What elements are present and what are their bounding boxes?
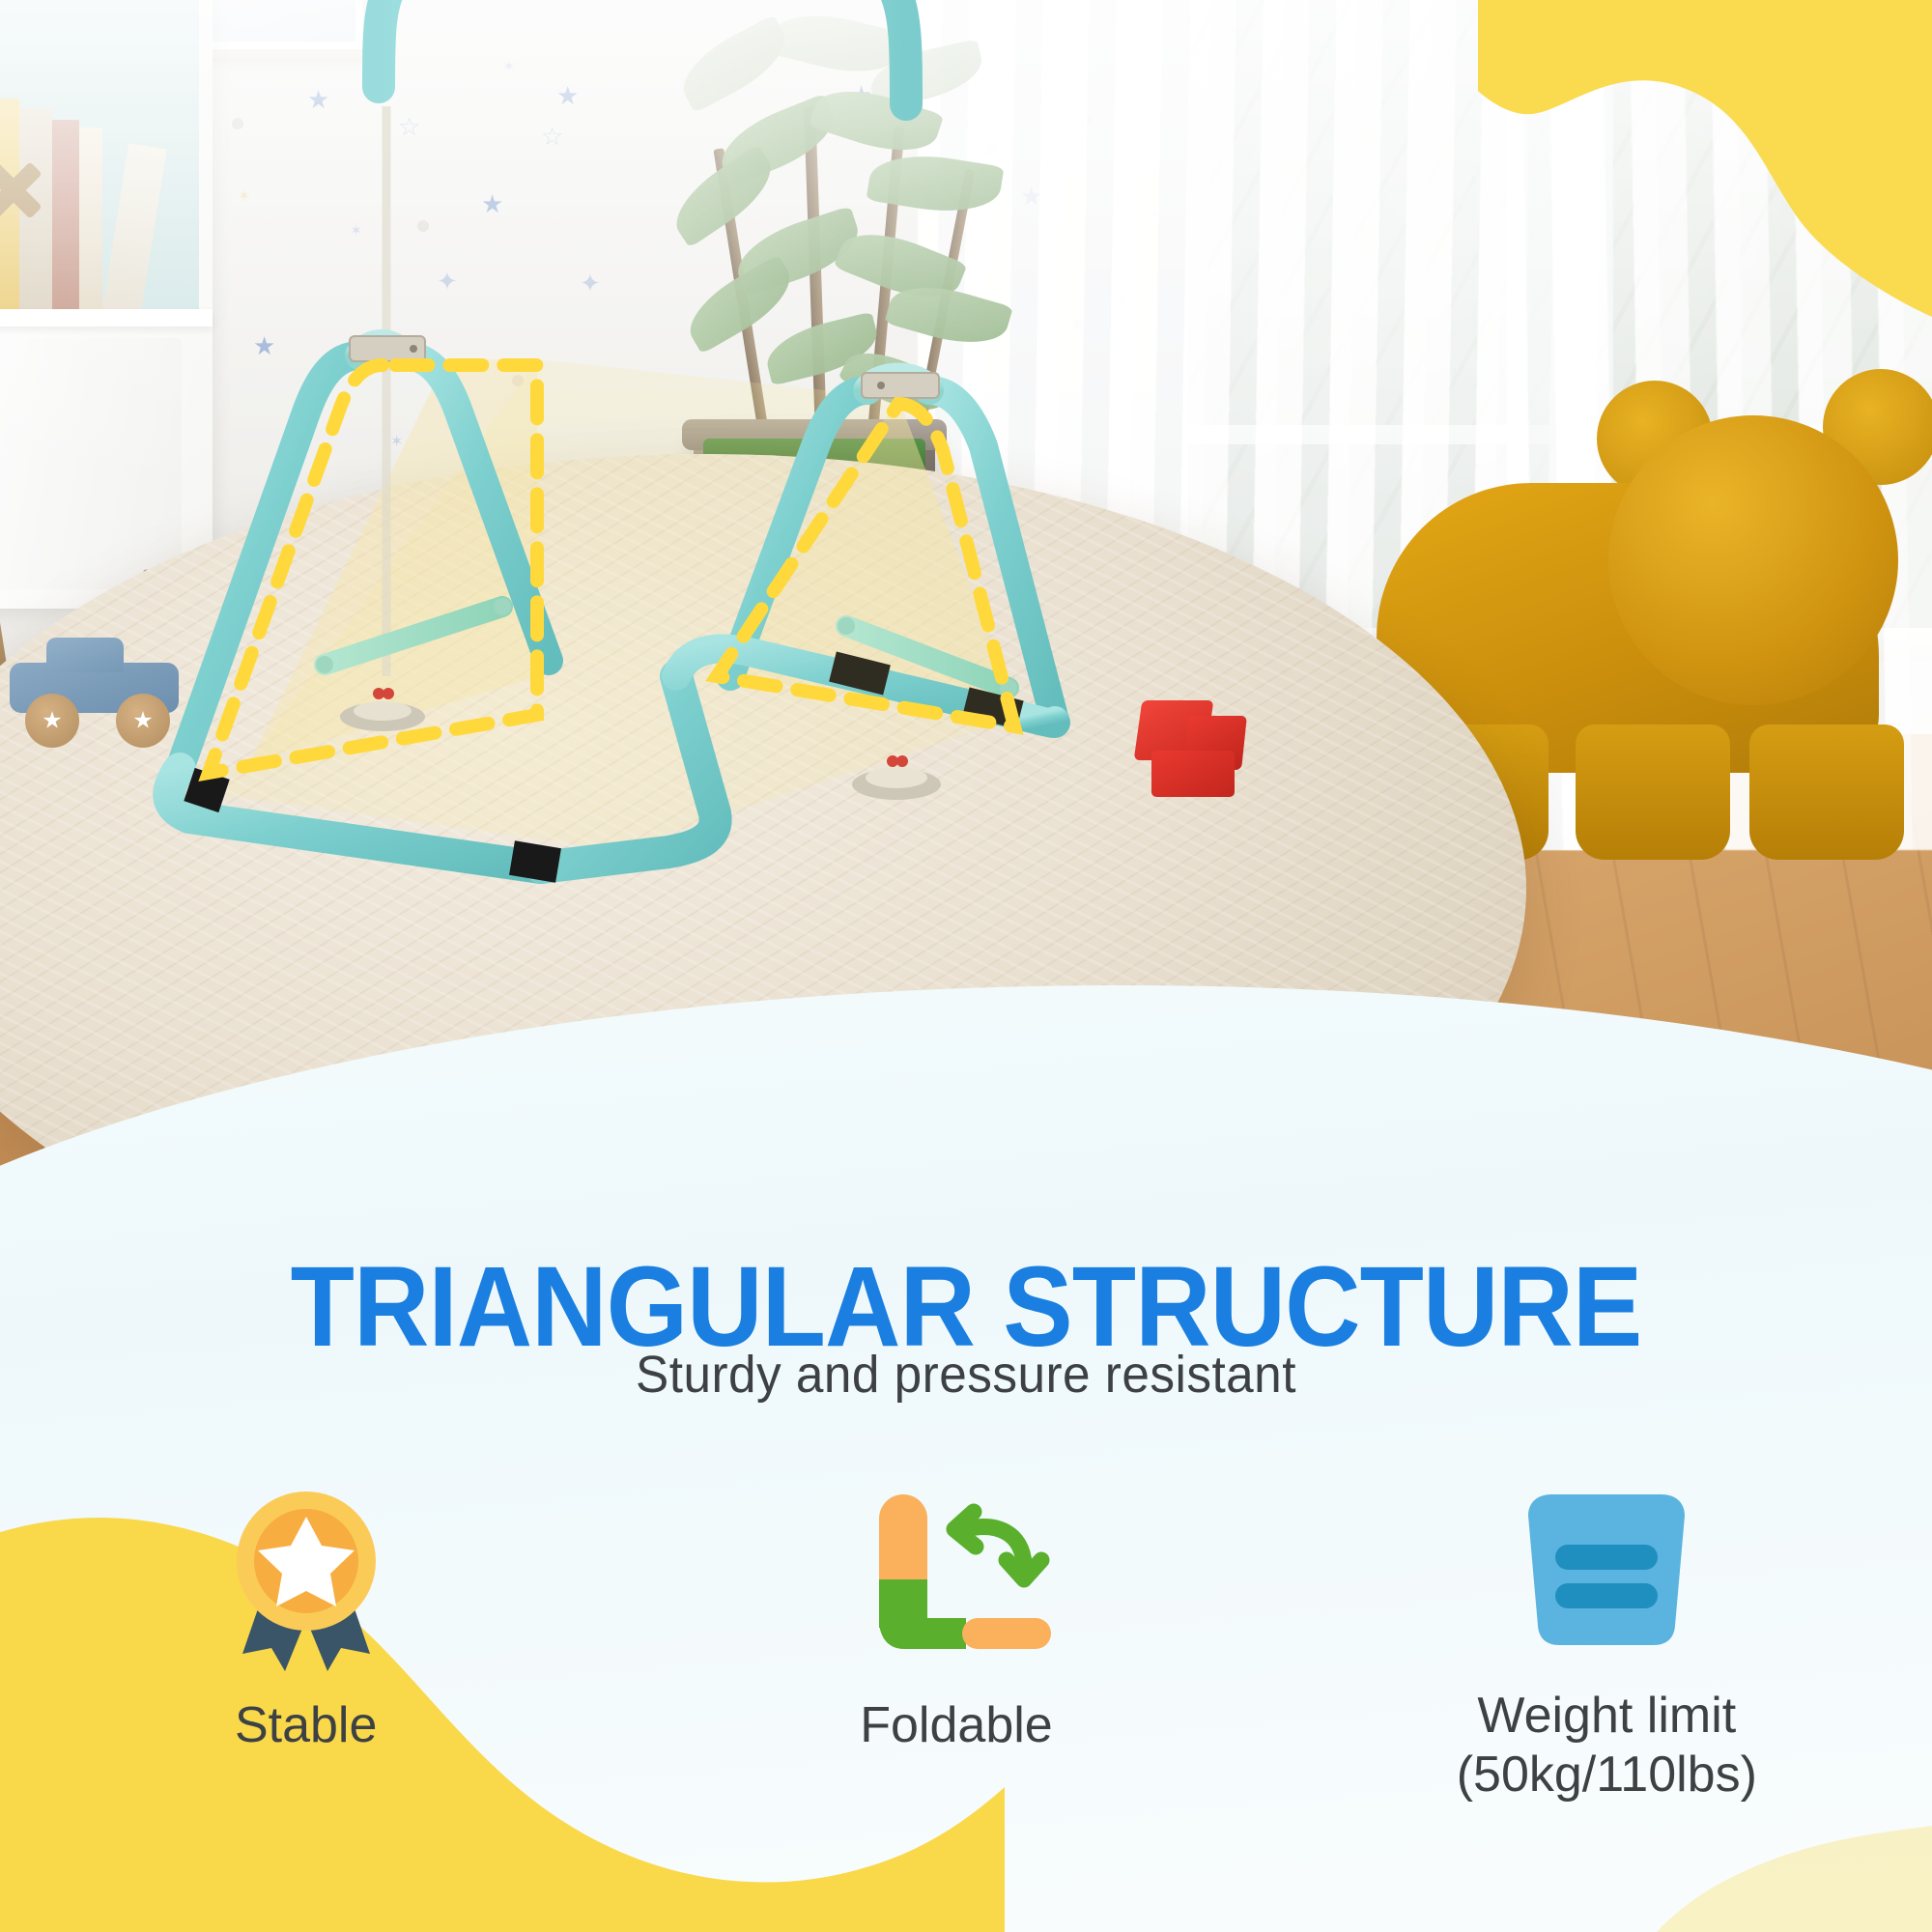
bracket-right	[862, 373, 939, 398]
award-medal-icon	[210, 1468, 403, 1690]
feature-foldable: Foldable	[631, 1468, 1281, 1874]
feature-label: Foldable	[860, 1696, 1052, 1755]
fold-arrow-icon	[852, 1468, 1060, 1690]
top-crossbar	[379, 0, 906, 104]
base-rail-back-right	[1024, 717, 1056, 724]
page-subtitle: Sturdy and pressure resistant	[48, 1345, 1884, 1405]
infographic-canvas: ✦ ✶ ★ ☆ ✶ ★ ☆ ✶ ✦ ✶ ★ ☆ ✶ ☆ ✶ ★ ✦ ✶ ☆ ✶ …	[0, 0, 1932, 1932]
feature-label: Stable	[235, 1696, 377, 1755]
feature-row: Stable Foldabl	[0, 1468, 1932, 1874]
yellow-blob-top-right	[1478, 0, 1932, 317]
feature-label: Weight limit (50kg/110lbs)	[1457, 1687, 1757, 1805]
feature-stable: Stable	[0, 1468, 631, 1874]
feature-weight-limit: Weight limit (50kg/110lbs)	[1282, 1459, 1932, 1874]
weight-scale-icon	[1495, 1459, 1718, 1681]
